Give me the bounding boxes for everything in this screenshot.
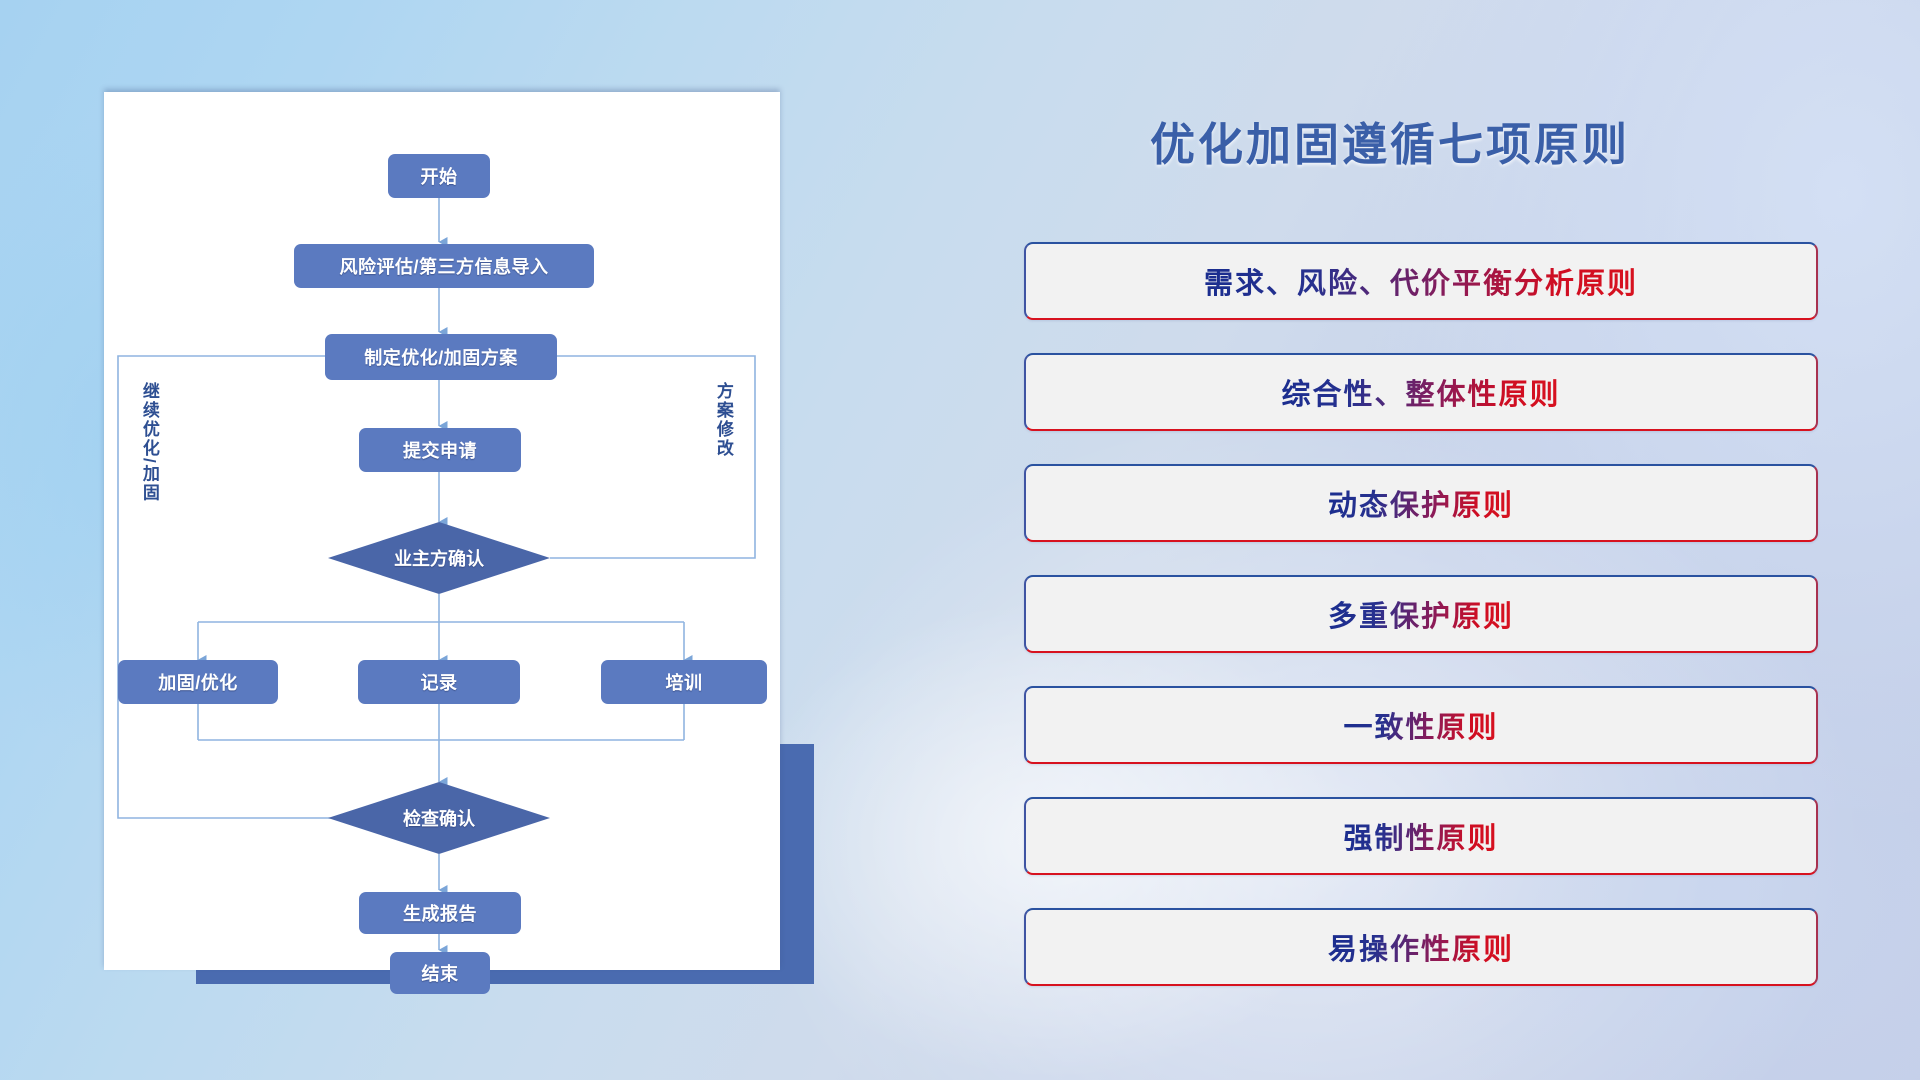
flow-node-training-label: 培训 [666, 669, 703, 695]
flowchart-canvas: 开始 风险评估/第三方信息导入 制定优化/加固方案 提交申请 业主方确认 加固/… [104, 92, 780, 970]
flow-node-start-label: 开始 [421, 163, 458, 189]
principle-label-7: 易操作性原则 [1328, 926, 1514, 968]
flow-edge-label-left-loop: 继续优化/加固 [140, 382, 158, 503]
flow-node-owner-confirm-label: 业主方确认 [394, 545, 484, 571]
flow-node-submit[interactable]: 提交申请 [359, 428, 521, 472]
flow-node-end[interactable]: 结束 [390, 952, 490, 994]
flow-node-start[interactable]: 开始 [388, 154, 490, 198]
flow-node-reinforce-label: 加固/优化 [158, 669, 238, 695]
principle-label-2: 综合性、整体性原则 [1281, 371, 1560, 413]
flow-node-reinforce[interactable]: 加固/优化 [118, 660, 278, 704]
principles-panel: 优化加固遵循七项原则 需求、风险、代价平衡分析原则 综合性、整体性原则 动态保护… [1020, 92, 1830, 1002]
flow-node-training[interactable]: 培训 [601, 660, 767, 704]
flow-node-submit-label: 提交申请 [403, 437, 477, 463]
flow-node-report[interactable]: 生成报告 [359, 892, 521, 934]
flow-node-plan-label: 制定优化/加固方案 [364, 344, 518, 370]
flow-node-record-label: 记录 [421, 669, 458, 695]
flow-node-risk-assessment[interactable]: 风险评估/第三方信息导入 [294, 244, 594, 288]
slide-canvas: 开始 风险评估/第三方信息导入 制定优化/加固方案 提交申请 业主方确认 加固/… [0, 0, 1920, 1080]
principle-card-1[interactable]: 需求、风险、代价平衡分析原则 [1024, 242, 1818, 320]
flow-node-record[interactable]: 记录 [358, 660, 520, 704]
flow-node-check-confirm-label: 检查确认 [403, 805, 475, 831]
page-title: 优化加固遵循七项原则 [1150, 108, 1630, 173]
principle-card-3[interactable]: 动态保护原则 [1024, 464, 1818, 542]
principle-label-6: 强制性原则 [1343, 815, 1498, 857]
principle-card-5[interactable]: 一致性原则 [1024, 686, 1818, 764]
principle-label-3: 动态保护原则 [1328, 482, 1514, 524]
principle-card-2[interactable]: 综合性、整体性原则 [1024, 353, 1818, 431]
flow-node-plan[interactable]: 制定优化/加固方案 [325, 334, 557, 380]
principle-label-5: 一致性原则 [1343, 704, 1498, 746]
principle-label-1: 需求、风险、代价平衡分析原则 [1204, 260, 1638, 302]
flow-edge-label-right-loop: 方案修改 [714, 382, 732, 458]
flowchart-card: 开始 风险评估/第三方信息导入 制定优化/加固方案 提交申请 业主方确认 加固/… [104, 92, 780, 970]
principle-card-7[interactable]: 易操作性原则 [1024, 908, 1818, 986]
principle-card-4[interactable]: 多重保护原则 [1024, 575, 1818, 653]
flow-node-risk-assessment-label: 风险评估/第三方信息导入 [340, 253, 549, 279]
principle-card-6[interactable]: 强制性原则 [1024, 797, 1818, 875]
principle-label-4: 多重保护原则 [1328, 593, 1514, 635]
flow-node-end-label: 结束 [422, 960, 459, 986]
flow-node-report-label: 生成报告 [403, 900, 477, 926]
